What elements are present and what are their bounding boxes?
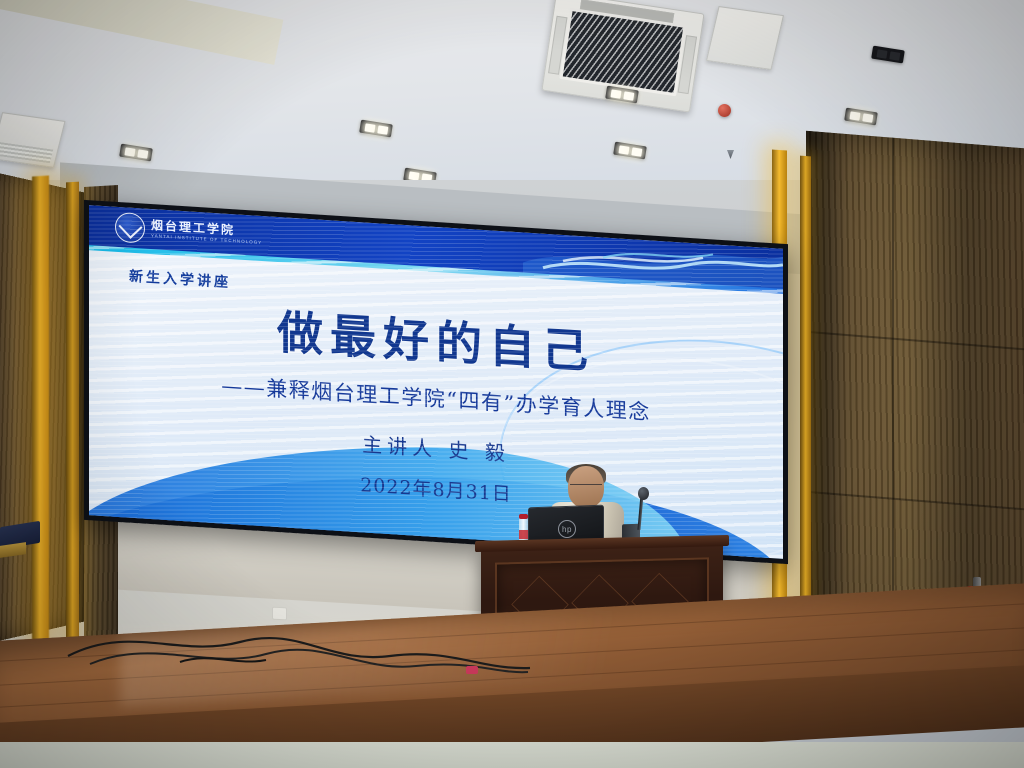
- glasses-icon: [570, 484, 602, 492]
- ceiling-spotlight-icon: [359, 120, 393, 138]
- bottle-label: [519, 530, 528, 539]
- ceiling-beam: [0, 0, 283, 65]
- smoke-detector-icon: [718, 104, 731, 117]
- university-logo: 烟台理工学院 YANTAI INSTITUTE OF TECHNOLOGY: [115, 212, 262, 251]
- presentation-slide: 烟台理工学院 YANTAI INSTITUTE OF TECHNOLOGY 新生…: [89, 205, 783, 559]
- ceiling-access-panel: [706, 6, 784, 70]
- bottle-cap: [519, 514, 528, 519]
- ceiling-spotlight-icon: [613, 142, 647, 160]
- ceiling-vent-left: [0, 112, 66, 168]
- ceiling-spotlight-icon: [844, 108, 878, 126]
- sprinkler-icon: [727, 150, 734, 159]
- accent-light-strip-left: [32, 175, 49, 644]
- stage-cables: [60, 612, 720, 684]
- accent-light-strip-right-2: [800, 156, 811, 651]
- led-screen: 烟台理工学院 YANTAI INSTITUTE OF TECHNOLOGY 新生…: [84, 200, 788, 564]
- ceiling-spotlight-icon: [871, 46, 905, 64]
- cable-plug: [466, 666, 478, 674]
- lecture-hall-photo: 烟台理工学院 YANTAI INSTITUTE OF TECHNOLOGY 新生…: [0, 0, 1024, 768]
- ceiling-spotlight-icon: [119, 144, 153, 162]
- checkmark-emblem-icon: [115, 212, 145, 244]
- microphone-head-icon: [638, 487, 649, 500]
- hp-logo: hp: [558, 520, 576, 538]
- accent-light-strip-left-2: [66, 182, 79, 645]
- floor: [0, 742, 1024, 768]
